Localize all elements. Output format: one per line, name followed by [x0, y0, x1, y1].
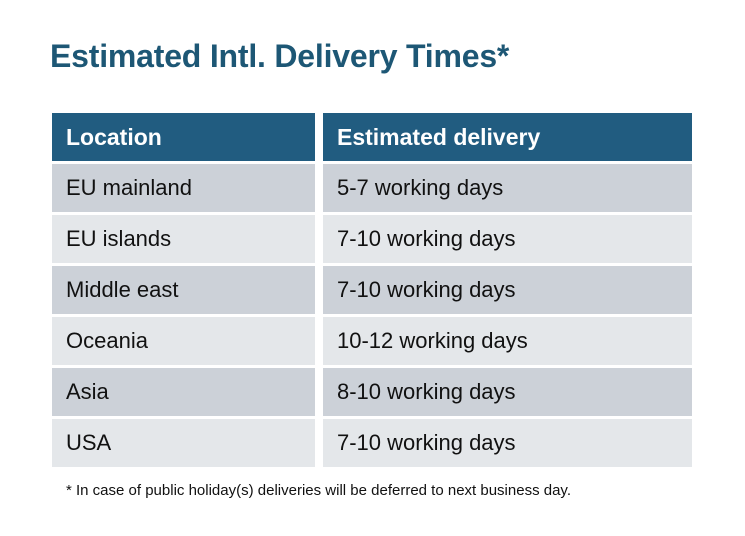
footnote-text: * In case of public holiday(s) deliverie… [66, 481, 571, 501]
table-row: Oceania 10-12 working days [52, 317, 692, 365]
column-header-estimated-delivery: Estimated delivery [323, 113, 692, 161]
cell-location: Asia [52, 368, 315, 416]
cell-location: Oceania [52, 317, 315, 365]
delivery-times-table: Location Estimated delivery EU mainland … [52, 113, 692, 470]
delivery-times-page: Estimated Intl. Delivery Times* Location… [0, 0, 745, 536]
cell-delivery: 8-10 working days [323, 368, 692, 416]
table-row: USA 7-10 working days [52, 419, 692, 467]
cell-delivery: 7-10 working days [323, 215, 692, 263]
cell-location: EU islands [52, 215, 315, 263]
table-row: Asia 8-10 working days [52, 368, 692, 416]
column-header-location: Location [52, 113, 315, 161]
cell-delivery: 5-7 working days [323, 164, 692, 212]
table-row: Middle east 7-10 working days [52, 266, 692, 314]
cell-delivery: 7-10 working days [323, 419, 692, 467]
table-header-row: Location Estimated delivery [52, 113, 692, 161]
table-row: EU islands 7-10 working days [52, 215, 692, 263]
table-row: EU mainland 5-7 working days [52, 164, 692, 212]
page-title: Estimated Intl. Delivery Times* [50, 36, 509, 76]
cell-location: Middle east [52, 266, 315, 314]
cell-location: USA [52, 419, 315, 467]
cell-location: EU mainland [52, 164, 315, 212]
cell-delivery: 7-10 working days [323, 266, 692, 314]
cell-delivery: 10-12 working days [323, 317, 692, 365]
